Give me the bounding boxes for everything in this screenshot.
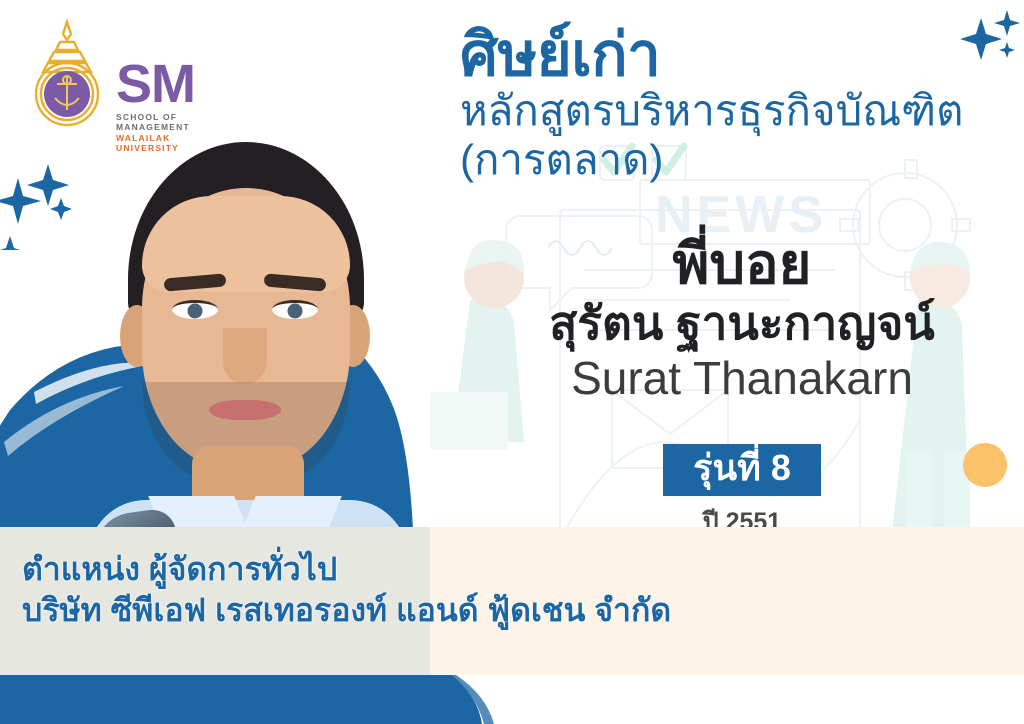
bottom-blue-bar — [0, 675, 1024, 724]
program-line-2: (การตลาด) — [460, 136, 1020, 183]
logo-wordmark: SM SCHOOL OF MANAGEMENT WALAILAK UNIVERS… — [116, 60, 214, 153]
person-name-english: Surat Thanakarn — [460, 352, 1024, 405]
batch-badge: รุ่นที่ 8 — [663, 444, 821, 496]
person-nickname: พี่บอย — [460, 235, 1024, 294]
program-line-1: หลักสูตรบริหารธุรกิจบัณฑิต — [460, 87, 1020, 134]
alumni-poster: NEWS — [0, 0, 1024, 724]
logo-subtitle-school: SCHOOL OF MANAGEMENT — [116, 112, 214, 132]
svg-text:ว: ว — [62, 118, 65, 124]
person-name-thai: สุรัตน ฐานะกาญจน์ — [460, 296, 1024, 350]
position-text-block: ตำแหน่ง ผู้จัดการทั่วไป บริษัท ซีพีเอฟ เ… — [22, 549, 942, 631]
walailak-sm-logo: ม ห า ว ิ ท ย SM SCHOOL OF MANAGEMENT WA… — [24, 18, 214, 130]
logo-subtitle-university: WALAILAK UNIVERSITY — [116, 133, 214, 153]
logo-sm-mark: SM — [116, 60, 214, 109]
name-block: พี่บอย สุรัตน ฐานะกาญจน์ Surat Thanakarn — [460, 235, 1024, 405]
position-line-1: ตำแหน่ง ผู้จัดการทั่วไป — [22, 549, 942, 590]
walailak-university-crest-icon: ม ห า ว ิ ท ย — [24, 18, 110, 130]
position-line-2: บริษัท ซีพีเอฟ เรสเทอรองท์ แอนด์ ฟู้ดเชน… — [22, 590, 942, 631]
alumni-label: ศิษย์เก่า — [460, 24, 1020, 85]
headline-block: ศิษย์เก่า หลักสูตรบริหารธุรกิจบัณฑิต (กา… — [460, 24, 1020, 183]
